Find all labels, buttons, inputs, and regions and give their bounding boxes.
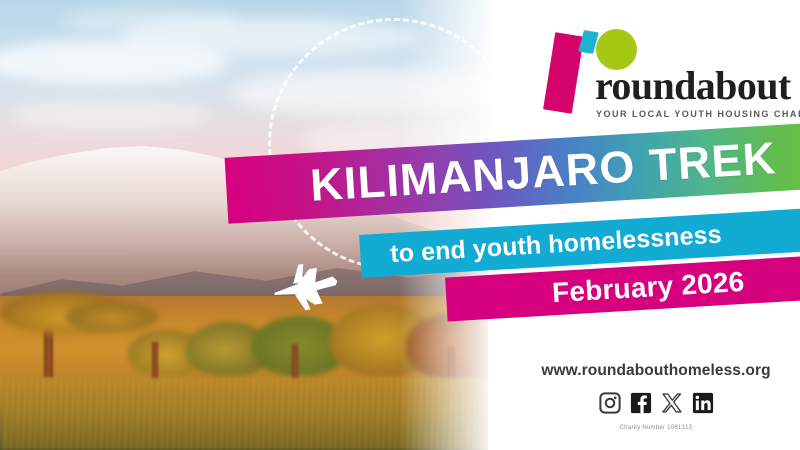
grassland-foreground — [0, 378, 512, 450]
tree-trunk — [152, 342, 158, 382]
acacia-canopy — [66, 302, 158, 332]
x-twitter-icon[interactable] — [661, 392, 683, 414]
website-url[interactable]: www.roundabouthomeless.org — [512, 362, 800, 380]
kilimanjaro-photo — [0, 0, 512, 450]
cloud — [230, 70, 512, 116]
vegetation-row — [0, 286, 512, 382]
promo-poster: roundabout YOUR LOCAL YOUTH HOUSING CHAR… — [0, 0, 800, 450]
instagram-icon[interactable] — [599, 392, 621, 414]
logo-tagline: YOUR LOCAL YOUTH HOUSING CHARITY — [596, 109, 800, 119]
tree-trunk — [292, 344, 298, 382]
cloud — [10, 100, 210, 130]
tree-trunk — [448, 346, 455, 382]
linkedin-icon[interactable] — [692, 392, 714, 414]
date-text: February 2026 — [551, 266, 745, 309]
social-links — [512, 392, 800, 414]
facebook-icon[interactable] — [630, 392, 652, 414]
cloud — [60, 8, 240, 34]
logo-mark-bar-icon — [543, 32, 584, 114]
logo-wordmark: roundabout — [595, 66, 795, 106]
roundabout-logo[interactable]: roundabout YOUR LOCAL YOUTH HOUSING CHAR… — [540, 24, 792, 116]
charity-number: Charity Number 1061313 — [512, 425, 800, 431]
